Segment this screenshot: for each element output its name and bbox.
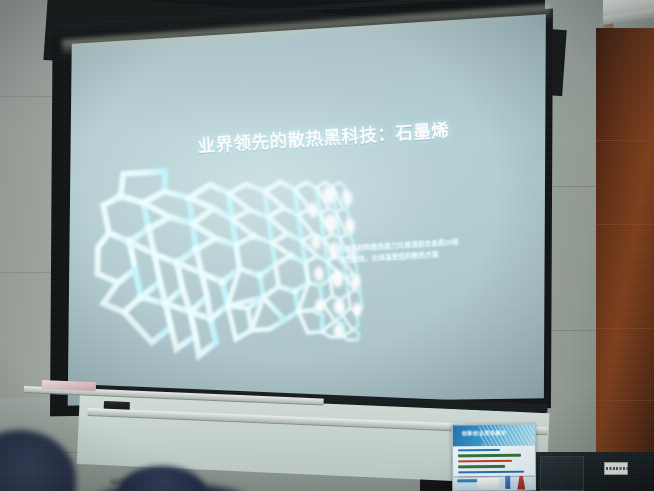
desk-object-cone [517, 476, 525, 490]
wood-grain-line [596, 140, 654, 141]
slide-title: 业界领先的散热黑科技：石墨烯 [197, 114, 508, 158]
desk-object-box [477, 478, 499, 489]
rack-front-panel [540, 456, 584, 491]
wood-grain-line [596, 400, 654, 401]
poster-board[interactable]: 创新创业项目展示 [452, 424, 537, 491]
slide: 业界领先的散热黑科技：石墨烯 ·石墨烯材料散热能力比普通铝合金高20倍 ·强力散… [38, 0, 569, 432]
wood-wall-panel [596, 28, 654, 476]
lecture-hall-scene: 业界领先的散热黑科技：石墨烯 ·石墨烯材料散热能力比普通铝合金高20倍 ·强力散… [0, 0, 654, 491]
poster-header: 创新创业项目展示 [453, 425, 535, 447]
poster-title: 创新创业项目展示 [462, 430, 507, 437]
poster-footer [453, 476, 535, 491]
desk-object-bottle [505, 476, 510, 489]
poster-footer-label [457, 479, 477, 482]
rack-label-text [606, 467, 628, 470]
rack-label [604, 462, 628, 475]
wood-grain-line [596, 224, 654, 225]
graphene-lattice-image [99, 159, 370, 355]
wood-grain-line [596, 328, 654, 329]
